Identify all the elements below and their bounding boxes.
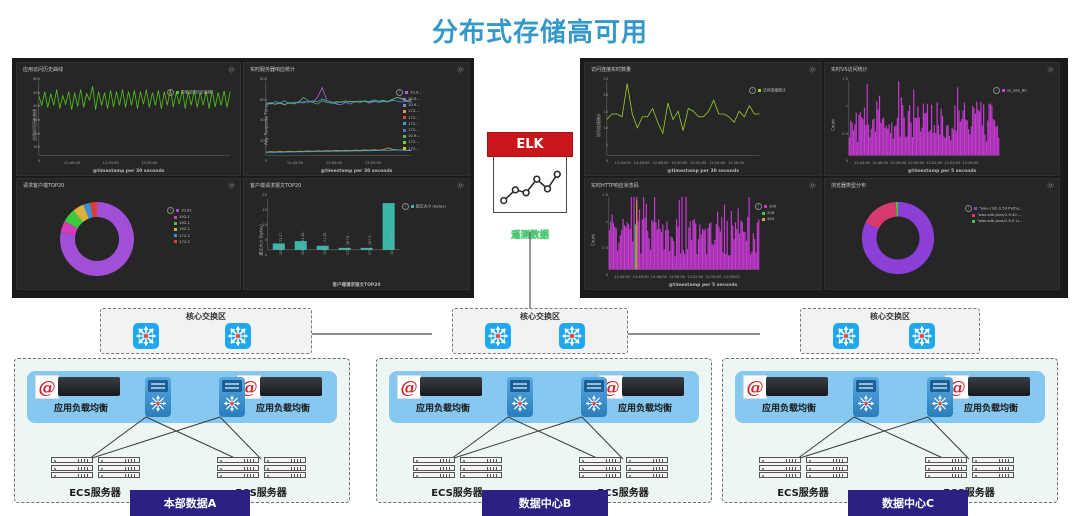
zone-title: 核心交换区 [101,311,311,322]
datacenter-label-c: 数据中心C [848,490,968,516]
legend[interactable]: i访问连接统计 [749,87,786,94]
zone-title: 核心交换区 [453,311,627,322]
plot-area: Avg. Response Time 0200400600800 12:45:0… [244,75,469,175]
server-rack [413,457,455,480]
legend-swatch [972,214,975,217]
line-chart-icon [494,157,566,212]
ecs-server-group-left[interactable]: ECS服务器 [755,457,851,499]
legend-swatch [972,220,975,223]
gear-icon[interactable] [809,66,816,73]
x-axis-ticks: 12:44:0012:46:0012:48:0012:50:0012:52:00… [825,161,1059,167]
x-axis-ticks: 12:44:0012:46:0012:48:0012:50:0012:52:00… [585,161,821,167]
datacenter-label-b: 数据中心B [482,490,608,516]
panel-title: 实时VS访问统计 [831,66,868,73]
legend-info-icon[interactable]: i [749,87,756,94]
legend-item[interactable]: i访问连接统计 [749,87,786,94]
server-rack [806,457,848,480]
panel-http-status[interactable]: 实时HTTP响应状态码 Count 00.511.5 12:44:0012:46… [584,178,822,290]
legend-item[interactable]: ivs_site_80 [993,87,1027,94]
legend-info-icon[interactable]: i [965,205,972,212]
gear-icon[interactable] [457,66,464,73]
core-switch-zone-b[interactable]: 核心交换区 [452,308,628,354]
panel-title: 应用访问历史曲线 [23,66,63,73]
panel-app-access-history[interactable]: 应用访问历史曲线 应用访问历史曲线 0100200300400500600 12… [16,62,241,176]
legend-item[interactable]: i报文大小 (bytes) [402,203,446,210]
panel-title: 实时HTTP响应状态码 [591,182,639,189]
plot-area: Count 00.511.5 12:44:0012:46:0012:48:001… [825,75,1059,175]
legend-swatch [176,91,179,94]
server-rack [217,457,259,480]
server-rack [626,457,668,480]
legend-item[interactable]: i10.9... [396,89,422,96]
donut-chart [855,195,941,281]
x-axis-label: 客户端请求报文TOP20 [244,282,469,288]
ecs-server-group-left[interactable]: ECS服务器 [47,457,143,499]
legend-info-icon[interactable]: i [402,203,409,210]
x-axis-ticks: 12:45:0012:50:0012:55:00 [244,161,469,167]
legend-swatch [758,89,761,92]
rack-row [575,457,671,480]
legend-item[interactable]: 172.2 [167,239,192,245]
legend-info-icon[interactable]: i [167,207,174,214]
server-rack [264,457,306,480]
panel-browser-types[interactable]: 浏览器类型分布 i"aws-cli/2.0.59 Pytho..."aws-sd… [824,178,1060,290]
legend-swatch [762,218,765,221]
x-axis-label: @timestamp per 5 seconds [825,169,1059,174]
legend[interactable]: i10.9...10.9...10.9...172...172...172...… [396,89,422,152]
panel-live-connections[interactable]: 访问连接实时数量 访问连接统计 0510152025 12:44:0012:46… [584,62,822,176]
panel-vs-access[interactable]: 实时VS访问统计 Count 00.511.5 12:44:0012:46:00… [824,62,1060,176]
legend-swatch [174,222,177,225]
legend-info-icon[interactable]: i [167,89,174,96]
legend-swatch [176,209,179,212]
gear-icon[interactable] [228,182,235,189]
gear-icon[interactable] [1047,66,1054,73]
core-switch-zone-a[interactable]: 核心交换区 [100,308,312,354]
donut-chart [53,195,141,283]
ecs-server-label: ECS服务器 [47,484,143,499]
legend-swatch [403,147,406,150]
datacenter-c[interactable]: @ 应用负载均衡 @ 应用负载均衡 [722,358,1058,503]
legend-swatch [762,212,765,215]
legend-swatch [403,104,406,107]
rack-row [409,457,505,480]
legend-item[interactable]: "aws-sdk-java/1.9.0 Li... [965,218,1023,224]
panel-title: 实时服务器响应统计 [250,66,295,73]
legend-swatch [405,91,408,94]
x-axis-label: @timestamp per 30 seconds [17,169,240,174]
plot-area: 报文大小 (bytes) 05101520 150.1... 21.27...1… [244,191,469,289]
gear-icon[interactable] [809,182,816,189]
rack-row [921,457,1017,480]
plot-area: Count 00.511.5 12:44:0012:46:0012:48:001… [585,191,821,289]
legend-swatch [974,207,977,210]
legend-swatch [174,216,177,219]
elk-chart-panel [493,157,567,213]
legend-item[interactable]: i应用访问历史曲线 [167,89,211,96]
core-switch-icon[interactable] [833,323,859,349]
core-switch-icon[interactable] [559,323,585,349]
elk-block[interactable]: ELK 遥测数据 [487,132,573,241]
legend-item[interactable]: i200 [755,203,776,210]
plot-area: i10.91192.1192.1192.1172.2172.2 [17,191,240,289]
dashboard-right: 访问连接实时数量 访问连接统计 0510152025 12:44:0012:46… [580,58,1068,298]
legend-swatch [403,122,406,125]
server-rack [579,457,621,480]
datacenter-label-a: 本部数据A [130,490,250,516]
legend-swatch [403,141,406,144]
legend-info-icon[interactable]: i [993,87,1000,94]
core-switch-icon[interactable] [133,323,159,349]
network-topology: 核心交换区 核心交换区 核心交换区 @ 应用负载均衡 [0,300,1080,516]
panel-server-response[interactable]: 实时服务器响应统计 Avg. Response Time 02004006008… [243,62,470,176]
legend[interactable]: i"aws-cli/2.0.59 Pytho..."aws-sdk-java/1… [965,205,1023,224]
legend-swatch [174,240,177,243]
x-axis-ticks: 150.1... 21.27...150.1... 21.26...150.1.… [244,253,469,279]
ecs-server-label: ECS服务器 [755,484,851,499]
server-rack [98,457,140,480]
legend-swatch [1002,89,1005,92]
legend-swatch [403,98,406,101]
panel-title: 浏览器类型分布 [831,182,866,189]
server-rack [972,457,1014,480]
server-rack [51,457,93,480]
dashboard-left: 应用访问历史曲线 应用访问历史曲线 0100200300400500600 12… [12,58,474,298]
gear-icon[interactable] [1047,182,1054,189]
legend-swatch [174,234,177,237]
legend-swatch [403,116,406,119]
panel-client-request-bytes[interactable]: 客户端请求报文TOP20 报文大小 (bytes) 05101520 150.1… [243,178,470,290]
core-switch-icon[interactable] [485,323,511,349]
core-switch-zone-c[interactable]: 核心交换区 [800,308,980,354]
legend-swatch [174,228,177,231]
rack-row [47,457,143,480]
server-rack [759,457,801,480]
x-axis-label: @timestamp per 5 seconds [585,283,821,288]
elk-header: ELK [487,132,573,157]
rack-row [213,457,309,480]
zone-title: 核心交换区 [801,311,979,322]
legend-swatch [764,205,767,208]
core-switch-icon[interactable] [225,323,251,349]
legend[interactable]: i10.91192.1192.1192.1172.2172.2 [167,207,192,245]
legend-item[interactable]: 172... [396,146,422,152]
panel-title: 客户端请求报文TOP20 [250,182,301,189]
x-axis-label: @timestamp per 30 seconds [244,169,469,174]
core-switch-icon[interactable] [909,323,935,349]
panel-title: 访问连接实时数量 [591,66,631,73]
legend[interactable]: ivs_site_80 [993,87,1027,94]
server-rack [460,457,502,480]
server-rack [925,457,967,480]
legend[interactable]: i报文大小 (bytes) [402,203,446,210]
legend-info-icon[interactable]: i [396,89,403,96]
x-axis-label: @timestamp per 30 seconds [585,169,821,174]
gear-icon[interactable] [457,182,464,189]
legend-swatch [411,205,414,208]
gear-icon[interactable] [228,66,235,73]
x-axis-ticks: 12:44:0012:46:0012:48:0012:50:0012:52:00… [585,275,821,281]
rack-row [755,457,851,480]
telemetry-label: 遥测数据 [487,227,573,241]
x-axis-ticks: 12:45:0012:50:0012:55:00 [17,161,240,167]
panel-title: 请求客户端TOP20 [23,182,64,189]
legend-swatch [403,110,406,113]
legend-info-icon[interactable]: i [755,203,762,210]
legend-item[interactable]: i10.91 [167,207,192,214]
panel-top-clients[interactable]: 请求客户端TOP20 i10.91192.1192.1192.1172.2172… [16,178,241,290]
legend-swatch [403,129,406,132]
plot-area: i"aws-cli/2.0.59 Pytho..."aws-sdk-java/1… [825,191,1059,289]
legend-item[interactable]: i"aws-cli/2.0.59 Pytho... [965,205,1023,212]
plot-area: 应用访问历史曲线 0100200300400500600 12:45:0012:… [17,75,240,175]
legend[interactable]: i200206404 [755,203,776,222]
page-title: 分布式存储高可用 [0,12,1080,49]
legend-item[interactable]: 404 [755,216,776,222]
legend[interactable]: i应用访问历史曲线 [167,89,211,96]
line-series [244,75,469,175]
legend-swatch [403,135,406,138]
plot-area: 访问连接统计 0510152025 12:44:0012:46:0012:48:… [585,75,821,175]
datacenter-b[interactable]: @ 应用负载均衡 @ 应用负载均衡 [376,358,712,503]
datacenter-a[interactable]: @ 应用负载均衡 @ 应用负载均衡 [14,358,350,503]
